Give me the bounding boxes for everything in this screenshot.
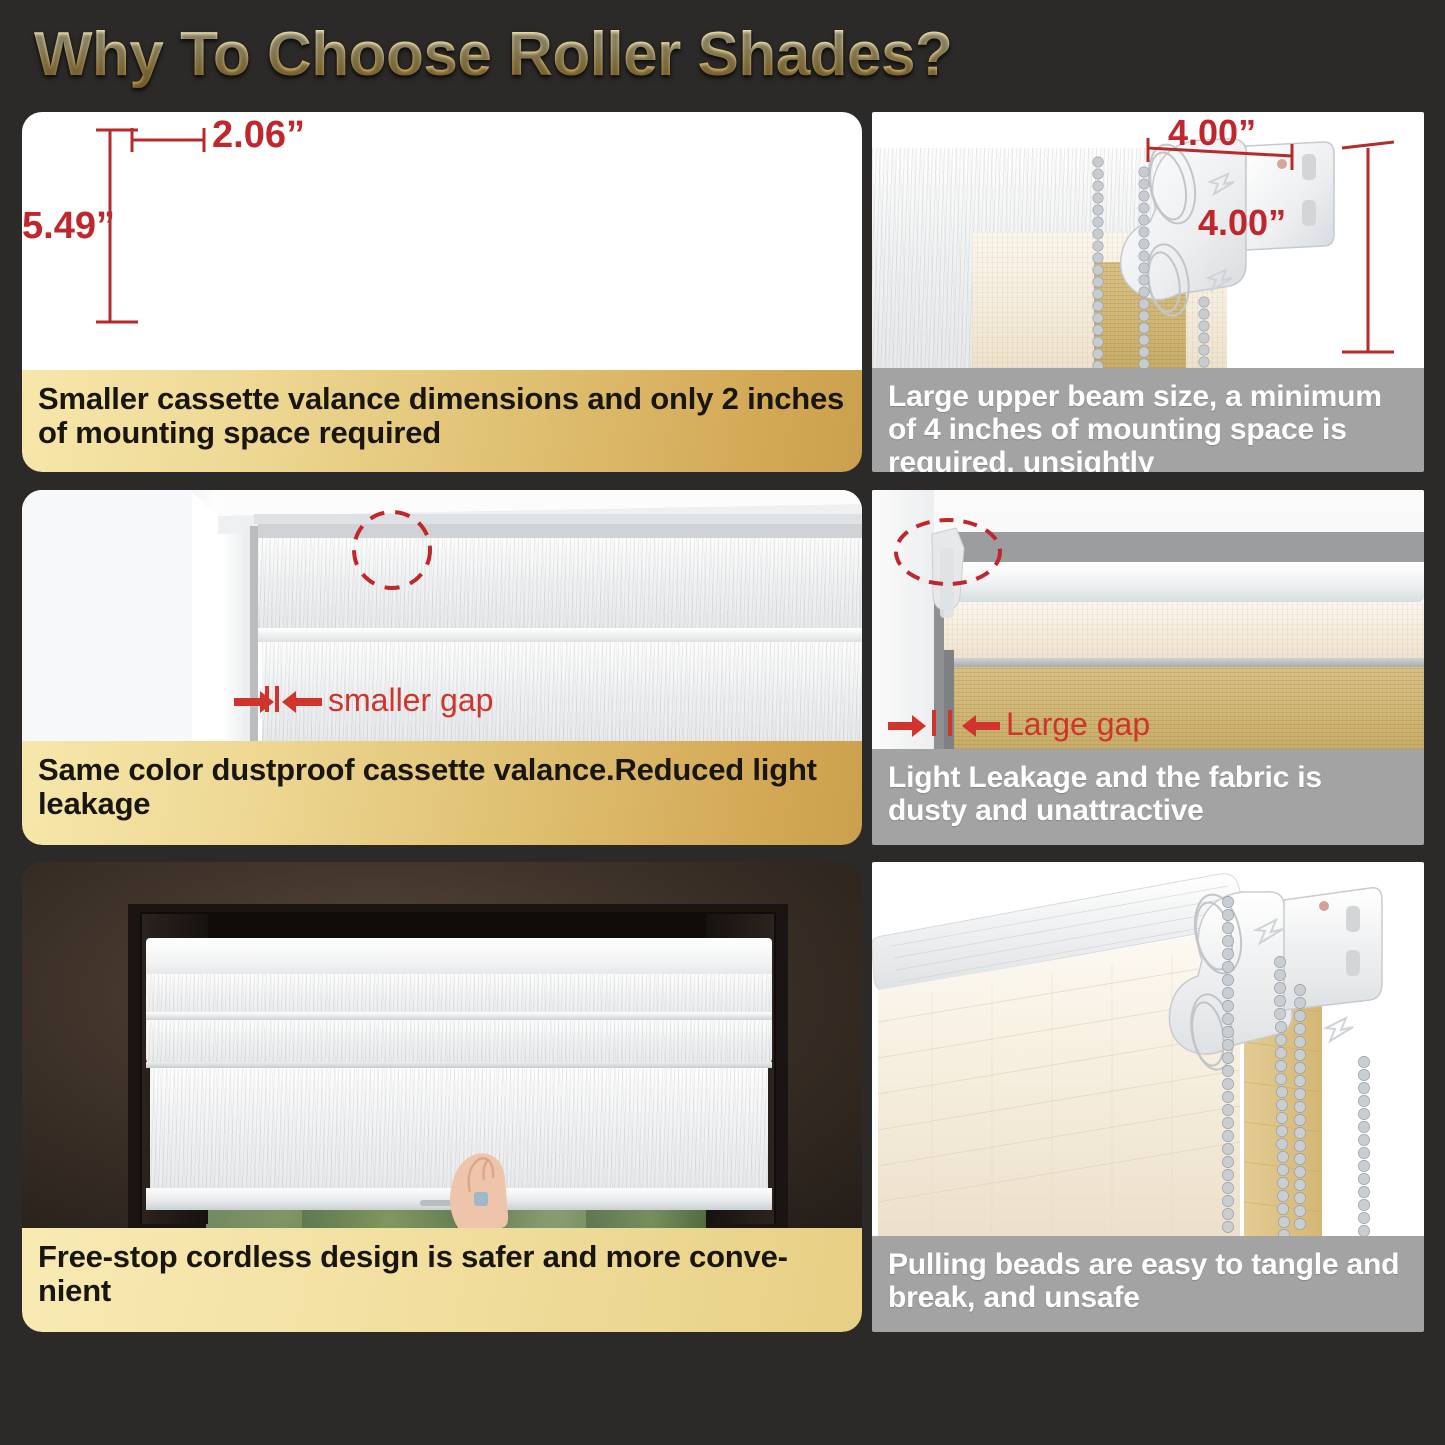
panel-con-beam-size: 4.00” 4.00” Large upper beam size, a min… [872, 112, 1424, 472]
dimension-label-width: 2.06” [212, 114, 305, 157]
caption-con-pulling-beads: Pulling beads are easy to tangle and bre… [872, 1236, 1424, 1332]
image-cassette-valance: 2.06” 5.49” [22, 112, 862, 370]
panel-pro-cassette-size: 2.06” 5.49” Smaller cassette valance dim… [22, 112, 862, 472]
panel-pro-cordless-design: Free-stop cordless design is safer and m… [22, 862, 862, 1332]
caption-pro-dustproof-valance: Same color dustproof cassette valance.Re… [22, 741, 862, 845]
caption-pro-cassette-size: Smaller cassette valance dimensions and … [22, 370, 862, 472]
dimension-label-height: 5.49” [22, 205, 115, 248]
image-light-leakage: Large gap [872, 490, 1424, 749]
gap-label-large: Large gap [1006, 706, 1150, 743]
caption-con-beam-size: Large upper beam size, a minimum of 4 in… [872, 368, 1424, 472]
caption-con-light-leakage: Light Leakage and the fabric is dusty an… [872, 749, 1424, 845]
caption-pro-cordless-design: Free-stop cordless design is safer and m… [22, 1228, 862, 1332]
image-pulling-beads [872, 862, 1424, 1236]
panel-con-light-leakage: Large gap Light Leakage and the fabric i… [872, 490, 1424, 845]
dimension-label-beam-width: 4.00” [1168, 112, 1256, 154]
dimension-label-beam-height: 4.00” [1198, 202, 1286, 244]
panel-con-pulling-beads: Pulling beads are easy to tangle and bre… [872, 862, 1424, 1332]
gap-label-smaller: smaller gap [328, 682, 493, 719]
page-header: Why To Choose Roller Shades? [0, 0, 1445, 108]
image-cordless-window [22, 862, 862, 1228]
image-dustproof-valance: smaller gap [22, 490, 862, 741]
page-title: Why To Choose Roller Shades? [34, 19, 952, 90]
image-large-beam: 4.00” 4.00” [872, 112, 1424, 368]
panel-pro-dustproof-valance: smaller gap Same color dustproof cassett… [22, 490, 862, 845]
